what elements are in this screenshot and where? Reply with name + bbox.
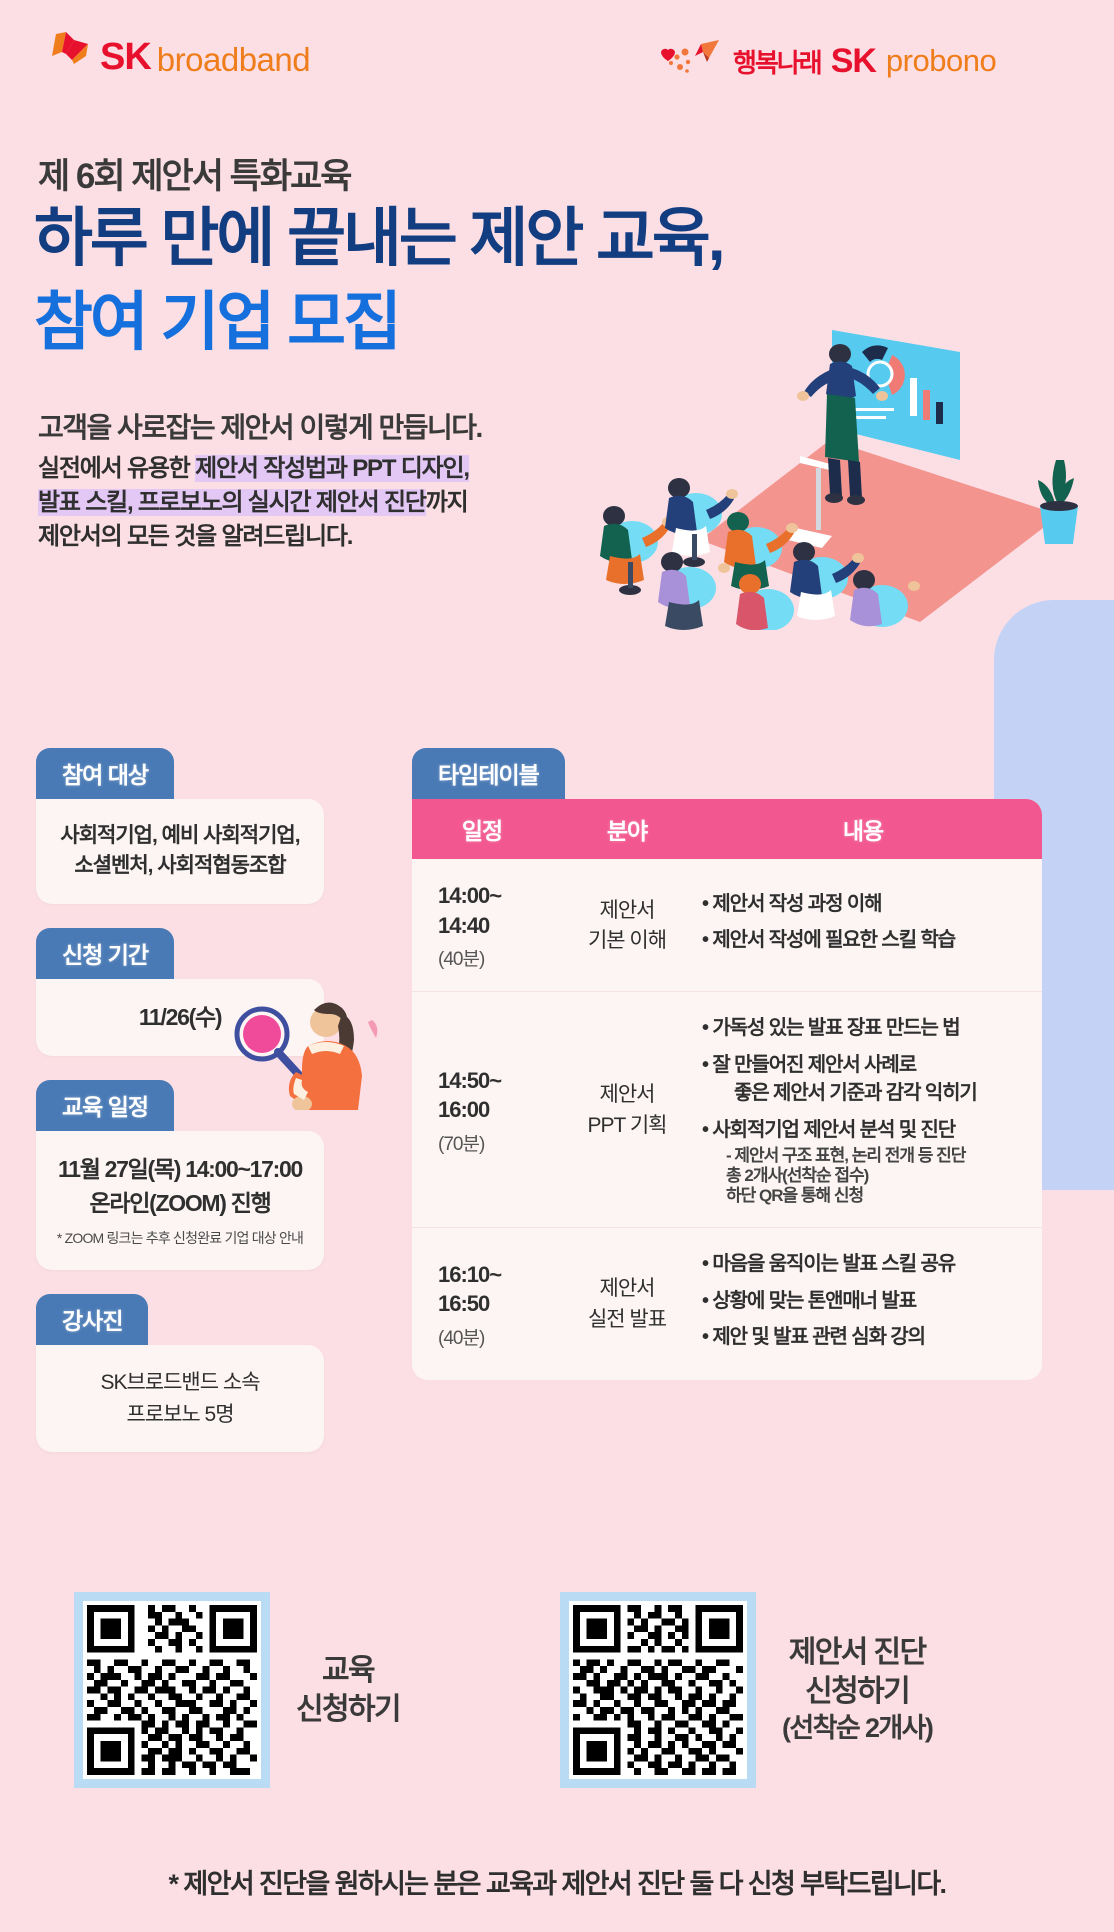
column-header-area: 분야 (552, 812, 702, 846)
qr-education-label-line2: 신청하기 (296, 1690, 400, 1729)
row2-bullet-1: • 가독성 있는 발표 장표 만드는 법 (702, 1014, 1024, 1042)
row2-subnote-3: 하단 QR을 통해 신청 (702, 1184, 1024, 1208)
qr-diagnosis-label-line3: (선착순 2개사) (782, 1711, 932, 1746)
happynarae-wordmark: 행복나래 (733, 43, 821, 80)
instructors-block: 강사진 SK브로드밴드 소속 프로보노 5명 (36, 1294, 324, 1452)
magnifier-illustration (222, 1000, 382, 1110)
row1-time-cell: 14:00~ 14:40 (40분) (412, 881, 552, 971)
instructors-line-1: SK브로드밴드 소속 (50, 1367, 310, 1399)
row3-time-cell: 16:10~ 16:50 (40분) (412, 1260, 552, 1350)
row2-area-cell: 제안서 PPT 기획 (552, 1080, 702, 1141)
timetable-card: 일정 분야 내용 14:00~ 14:40 (40분) 제안서 기본 이해 • … (412, 799, 1042, 1380)
row3-content-cell: • 마음을 움직이는 발표 스킬 공유 • 상황에 맞는 톤앤매너 발표 • 제… (702, 1250, 1042, 1359)
instructors-card-body: SK브로드밴드 소속 프로보노 5명 (36, 1345, 324, 1452)
lede-line1-pre: 실전에서 유용한 (38, 455, 195, 482)
lede-line-2: 발표 스킬, 프로보노의 실시간 제안서 진단까지 (38, 486, 469, 520)
instructors-line-2: 프로보노 5명 (50, 1399, 310, 1431)
row2-area-line2: PPT 기획 (552, 1111, 702, 1141)
instructors-card: SK브로드밴드 소속 프로보노 5명 (36, 1345, 324, 1452)
target-tab-label: 참여 대상 (36, 748, 174, 799)
qr-code-education-icon[interactable] (74, 1592, 270, 1788)
table-row: 14:00~ 14:40 (40분) 제안서 기본 이해 • 제안서 작성 과정… (412, 859, 1042, 991)
instructors-tab-label: 강사진 (36, 1294, 148, 1345)
table-row: 14:50~ 16:00 (70분) 제안서 PPT 기획 • 가독성 있는 발… (412, 991, 1042, 1227)
timetable-tab-label: 타임테이블 (412, 748, 565, 799)
schedule-note: * ZOOM 링크는 추후 신청완료 기업 대상 안내 (50, 1228, 310, 1248)
row1-duration: (40분) (412, 944, 552, 971)
header-logos: SK broadband 행복나래 SK probono (0, 0, 1114, 125)
target-line-2: 소셜벤처, 사회적협동조합 (50, 851, 310, 881)
row2-time-cell: 14:50~ 16:00 (70분) (412, 1066, 552, 1156)
row1-area-line2: 기본 이해 (552, 926, 702, 956)
timetable-header-row: 일정 분야 내용 (412, 799, 1042, 859)
sk-broadband-logo: SK broadband (42, 30, 310, 76)
row1-area-cell: 제안서 기본 이해 (552, 896, 702, 957)
qr-diagnosis-label-line2: 신청하기 (782, 1672, 932, 1711)
row2-bullet-2-continuation: 좋은 제안서 기준과 감각 익히기 (718, 1079, 1024, 1107)
row1-bullet-1: • 제안서 작성 과정 이해 (702, 890, 1024, 918)
lede-line1-highlight: 제안서 작성법과 PPT 디자인, (195, 455, 469, 482)
probono-wordmark: probono (886, 43, 996, 79)
row2-bullet-2-text: • 잘 만들어진 제안서 사례로 (702, 1054, 916, 1076)
qr-section: 교육 신청하기 (0, 1592, 1114, 1842)
target-card-body: 사회적기업, 예비 사회적기업, 소셜벤처, 사회적협동조합 (36, 799, 324, 904)
target-card: 사회적기업, 예비 사회적기업, 소셜벤처, 사회적협동조합 (36, 799, 324, 904)
row3-area-line2: 실전 발표 (552, 1305, 702, 1335)
lede-paragraph: 실전에서 유용한 제안서 작성법과 PPT 디자인, 발표 스킬, 프로보노의 … (38, 452, 469, 554)
row2-area-line1: 제안서 (552, 1080, 702, 1110)
qr-education-label: 교육 신청하기 (296, 1651, 400, 1729)
lede-line2-highlight: 발표 스킬, 프로보노의 실시간 제안서 진단 (38, 489, 426, 516)
row3-bullet-3: • 제안 및 발표 관련 심화 강의 (702, 1323, 1024, 1351)
row3-area-cell: 제안서 실전 발표 (552, 1274, 702, 1335)
row2-time-line2: 16:00 (412, 1095, 552, 1125)
page-title-line2: 참여 기업 모집 (34, 290, 399, 354)
qr-education-label-line1: 교육 (296, 1651, 400, 1690)
schedule-tab-label: 교육 일정 (36, 1080, 174, 1131)
schedule-line-1: 11월 27일(목) 14:00~17:00 (50, 1153, 310, 1186)
timetable-section: 타임테이블 일정 분야 내용 14:00~ 14:40 (40분) 제안서 기본… (412, 748, 1042, 1380)
row1-bullet-2: • 제안서 작성에 필요한 스킬 학습 (702, 926, 1024, 954)
page-title-line1: 하루 만에 끝내는 제안 교육, (34, 206, 723, 270)
sk-wordmark: SK (100, 38, 151, 76)
row2-bullet-2: • 잘 만들어진 제안서 사례로 좋은 제안서 기준과 감각 익히기 (702, 1051, 1024, 1108)
row3-duration: (40분) (412, 1323, 552, 1350)
row2-duration: (70분) (412, 1129, 552, 1156)
info-column: 참여 대상 사회적기업, 예비 사회적기업, 소셜벤처, 사회적협동조합 신청 … (36, 748, 324, 1476)
lede-line2-post: 까지 (426, 489, 468, 516)
schedule-line-2: 온라인(ZOOM) 진행 (50, 1187, 310, 1220)
column-header-schedule: 일정 (412, 812, 552, 846)
paper-plane-icon (655, 38, 723, 84)
sk-butterfly-icon (42, 30, 98, 76)
footer-note: * 제안서 진단을 원하시는 분은 교육과 제안서 진단 둘 다 신청 부탁드립… (0, 1862, 1114, 1901)
row3-time-line1: 16:10~ (412, 1260, 552, 1290)
row2-content-cell: • 가독성 있는 발표 장표 만드는 법 • 잘 만들어진 제안서 사례로 좋은… (702, 1014, 1042, 1207)
eyebrow-text: 제 6회 제안서 특화교육 (38, 148, 350, 199)
seminar-illustration (500, 300, 1114, 630)
row3-bullet-2: • 상황에 맞는 톤앤매너 발표 (702, 1287, 1024, 1315)
column-header-content: 내용 (702, 812, 1042, 846)
qr-apply-diagnosis[interactable]: 제안서 진단 신청하기 (선착순 2개사) (560, 1592, 932, 1788)
schedule-block: 교육 일정 11월 27일(목) 14:00~17:00 온라인(ZOOM) 진… (36, 1080, 324, 1270)
happynarae-sk-probono-logo: 행복나래 SK probono (655, 38, 996, 84)
sk-probono-sk-wordmark: SK (831, 42, 876, 81)
row1-time-line1: 14:00~ (412, 881, 552, 911)
lede-line-3: 제안서의 모든 것을 알려드립니다. (38, 520, 469, 554)
row3-time-line2: 16:50 (412, 1289, 552, 1319)
qr-code-diagnosis-icon[interactable] (560, 1592, 756, 1788)
target-block: 참여 대상 사회적기업, 예비 사회적기업, 소셜벤처, 사회적협동조합 (36, 748, 324, 904)
qr-diagnosis-label-line1: 제안서 진단 (782, 1633, 932, 1672)
target-line-1: 사회적기업, 예비 사회적기업, (50, 821, 310, 851)
row1-time-line2: 14:40 (412, 911, 552, 941)
qr-diagnosis-label: 제안서 진단 신청하기 (선착순 2개사) (782, 1633, 932, 1746)
schedule-card-body: 11월 27일(목) 14:00~17:00 온라인(ZOOM) 진행 * ZO… (36, 1131, 324, 1270)
row2-bullet-3: • 사회적기업 제안서 분석 및 진단 (702, 1116, 1024, 1144)
row1-content-cell: • 제안서 작성 과정 이해 • 제안서 작성에 필요한 스킬 학습 (702, 890, 1042, 963)
table-row: 16:10~ 16:50 (40분) 제안서 실전 발표 • 마음을 움직이는 … (412, 1227, 1042, 1379)
qr-apply-education[interactable]: 교육 신청하기 (74, 1592, 400, 1788)
apply-period-tab-label: 신청 기간 (36, 928, 174, 979)
row1-area-line1: 제안서 (552, 896, 702, 926)
row3-bullet-1: • 마음을 움직이는 발표 스킬 공유 (702, 1250, 1024, 1278)
schedule-card: 11월 27일(목) 14:00~17:00 온라인(ZOOM) 진행 * ZO… (36, 1131, 324, 1270)
row2-time-line1: 14:50~ (412, 1066, 552, 1096)
subheading: 고객을 사로잡는 제안서 이렇게 만듭니다. (38, 406, 482, 446)
lede-line-1: 실전에서 유용한 제안서 작성법과 PPT 디자인, (38, 452, 469, 486)
broadband-wordmark: broadband (157, 43, 310, 76)
row3-area-line1: 제안서 (552, 1274, 702, 1304)
